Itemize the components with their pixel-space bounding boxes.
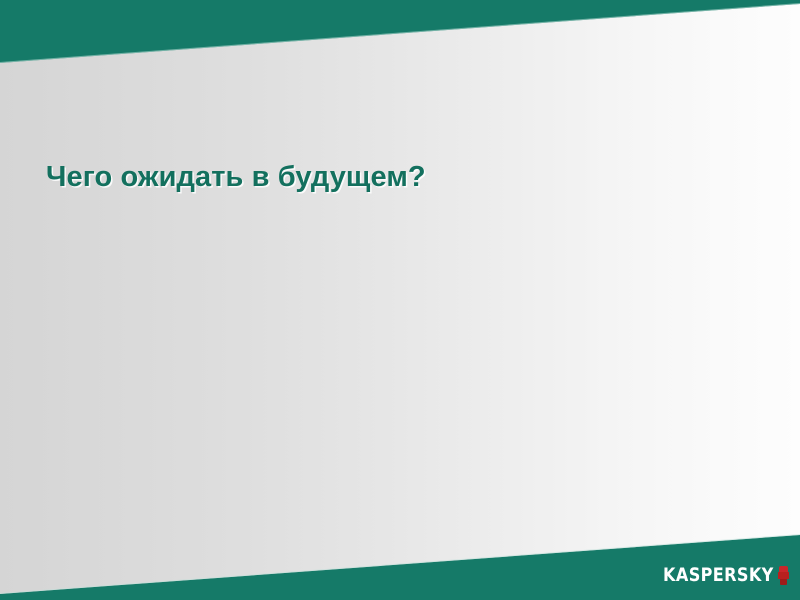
kaspersky-lab-mark-icon <box>778 566 789 585</box>
logo-mark-bottom-segment <box>780 579 787 585</box>
slide-title: Чего ожидать в будущем? <box>46 158 746 196</box>
logo-mark-middle-segment <box>778 572 789 579</box>
kaspersky-wordmark: KASPERSKY <box>663 566 774 585</box>
presentation-slide: Чего ожидать в будущем? KASPERSKY <box>0 0 800 600</box>
top-decorative-band <box>0 0 800 70</box>
kaspersky-logo: KASPERSKY <box>656 564 789 586</box>
slide-body-placeholder <box>46 215 754 510</box>
top-band-highlight-edge <box>0 0 800 70</box>
